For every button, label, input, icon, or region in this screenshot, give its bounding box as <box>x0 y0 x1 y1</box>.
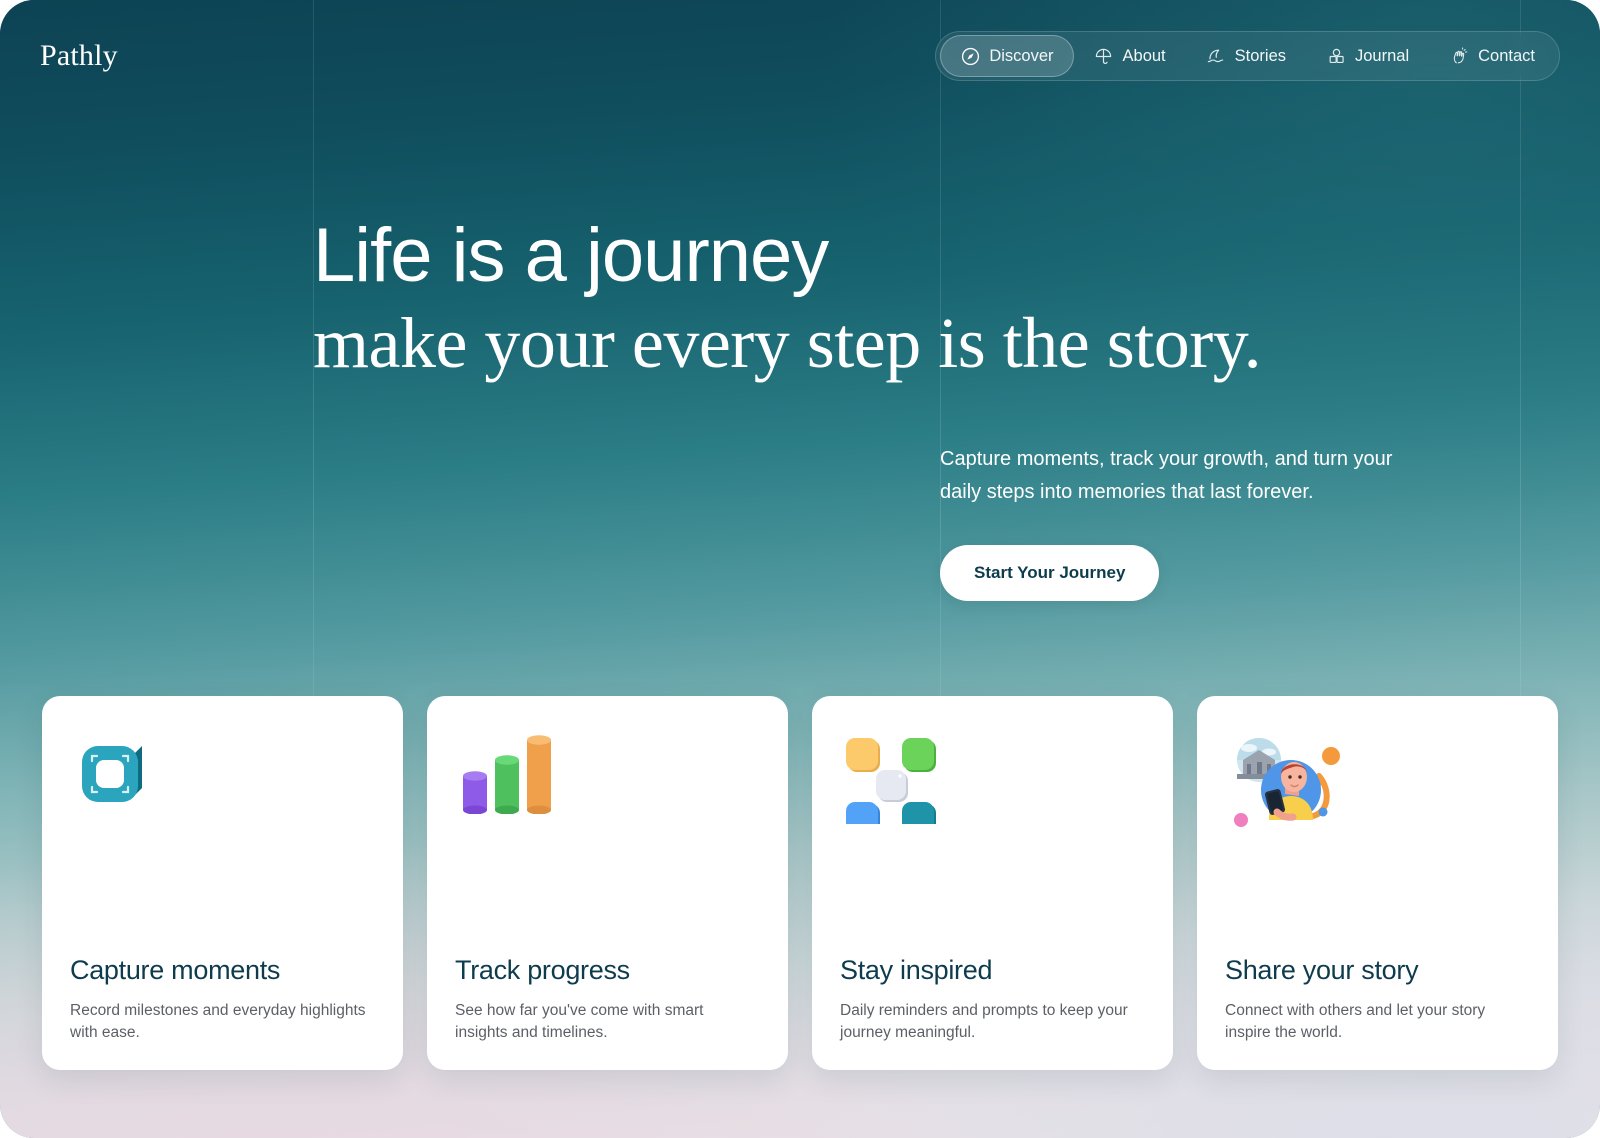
card-description: Daily reminders and prompts to keep your… <box>840 1000 1140 1044</box>
feature-card-track-progress[interactable]: Track progress See how far you've come w… <box>427 696 788 1070</box>
card-spacer <box>1225 838 1530 955</box>
feature-card-stay-inspired[interactable]: Stay inspired Daily reminders and prompt… <box>812 696 1173 1070</box>
feature-card-capture-moments[interactable]: Capture moments Record milestones and ev… <box>42 696 403 1070</box>
card-spacer <box>455 838 760 955</box>
brand-logo[interactable]: Pathly <box>40 39 118 73</box>
umbrella-icon <box>1094 46 1114 66</box>
share-illustration-icon <box>1225 728 1530 838</box>
card-title: Capture moments <box>70 955 375 986</box>
card-spacer <box>70 838 375 955</box>
bar-chart-icon <box>455 728 760 838</box>
landing-page: Pathly Discover <box>0 0 1600 1138</box>
main-navigation: Discover About <box>935 31 1560 81</box>
nav-label-contact: Contact <box>1478 47 1535 66</box>
nav-item-discover[interactable]: Discover <box>940 35 1073 77</box>
wave-icon <box>1206 46 1226 66</box>
waving-hand-icon <box>1449 46 1469 66</box>
nav-label-stories: Stories <box>1235 47 1286 66</box>
capture-frame-icon <box>70 728 375 838</box>
card-spacer <box>840 838 1145 955</box>
nav-item-journal[interactable]: Journal <box>1306 35 1429 77</box>
start-your-journey-button[interactable]: Start Your Journey <box>940 545 1159 601</box>
site-header: Pathly Discover <box>0 0 1600 112</box>
nav-label-discover: Discover <box>989 47 1053 66</box>
compass-icon <box>960 46 980 66</box>
card-description: Record milestones and everyday highlight… <box>70 1000 370 1044</box>
nav-item-stories[interactable]: Stories <box>1186 35 1306 77</box>
hero-headline-line1: Life is a journey <box>313 212 828 300</box>
card-title: Stay inspired <box>840 955 1145 986</box>
hero-right-column: Capture moments, track your growth, and … <box>940 443 1440 601</box>
color-tiles-icon <box>840 728 1145 838</box>
feature-card-share-your-story[interactable]: Share your story Connect with others and… <box>1197 696 1558 1070</box>
feature-cards: Capture moments Record milestones and ev… <box>42 696 1558 1070</box>
card-description: Connect with others and let your story i… <box>1225 1000 1525 1044</box>
card-description: See how far you've come with smart insig… <box>455 1000 755 1044</box>
nav-label-journal: Journal <box>1355 47 1409 66</box>
nav-item-about[interactable]: About <box>1074 35 1186 77</box>
nav-label-about: About <box>1123 47 1166 66</box>
hero-subtitle: Capture moments, track your growth, and … <box>940 443 1432 509</box>
card-title: Track progress <box>455 955 760 986</box>
shapes-icon <box>1326 46 1346 66</box>
nav-item-contact[interactable]: Contact <box>1429 35 1555 77</box>
hero-headline-line2: make your every step is the story. <box>313 300 1261 386</box>
card-title: Share your story <box>1225 955 1530 986</box>
